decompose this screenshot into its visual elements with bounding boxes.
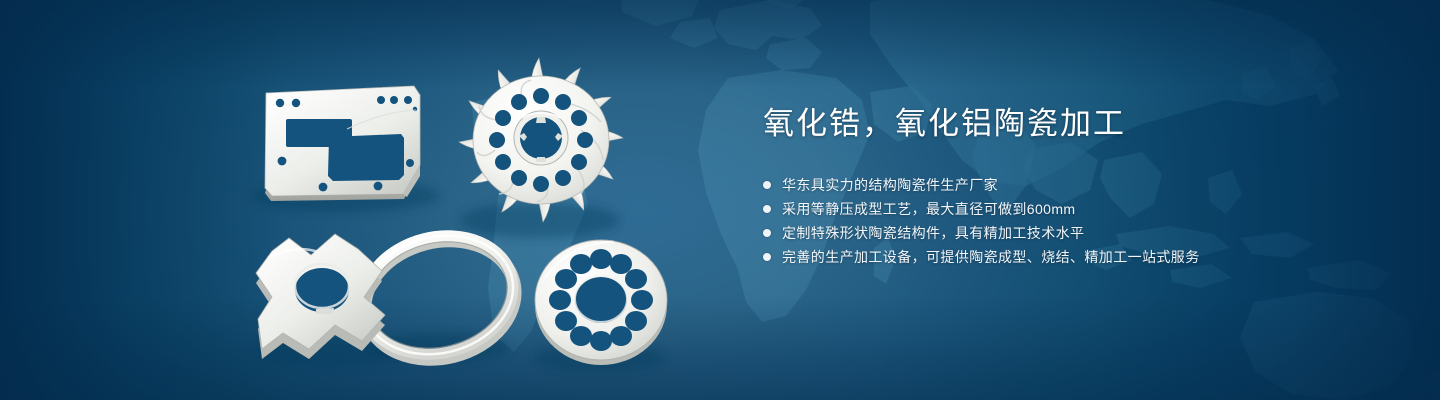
bullet-dot-icon	[763, 205, 771, 213]
banner-text-panel: 氧化锆，氧化铝陶瓷加工 华东具实力的结构陶瓷件生产厂家 采用等静压成型工艺，最大…	[763, 105, 1363, 269]
list-item: 完善的生产加工设备，可提供陶瓷成型、烧结、精加工一站式服务	[763, 245, 1363, 269]
feature-list: 华东具实力的结构陶瓷件生产厂家 采用等静压成型工艺，最大直径可做到600mm 定…	[763, 173, 1363, 269]
page-title: 氧化锆，氧化铝陶瓷加工	[763, 105, 1363, 144]
bullet-dot-icon	[763, 181, 771, 189]
list-item: 定制特殊形状陶瓷结构件，具有精加工技术水平	[763, 221, 1363, 245]
list-item-label: 华东具实力的结构陶瓷件生产厂家	[782, 173, 998, 197]
list-item-label: 采用等静压成型工艺，最大直径可做到600mm	[782, 197, 1075, 221]
list-item-label: 定制特殊形状陶瓷结构件，具有精加工技术水平	[782, 221, 1084, 245]
hero-banner: 氧化锆，氧化铝陶瓷加工 华东具实力的结构陶瓷件生产厂家 采用等静压成型工艺，最大…	[0, 0, 1440, 400]
list-item: 采用等静压成型工艺，最大直径可做到600mm	[763, 197, 1363, 221]
bullet-dot-icon	[763, 253, 771, 261]
list-item: 华东具实力的结构陶瓷件生产厂家	[763, 173, 1363, 197]
list-item-label: 完善的生产加工设备，可提供陶瓷成型、烧结、精加工一站式服务	[782, 245, 1200, 269]
bullet-dot-icon	[763, 229, 771, 237]
